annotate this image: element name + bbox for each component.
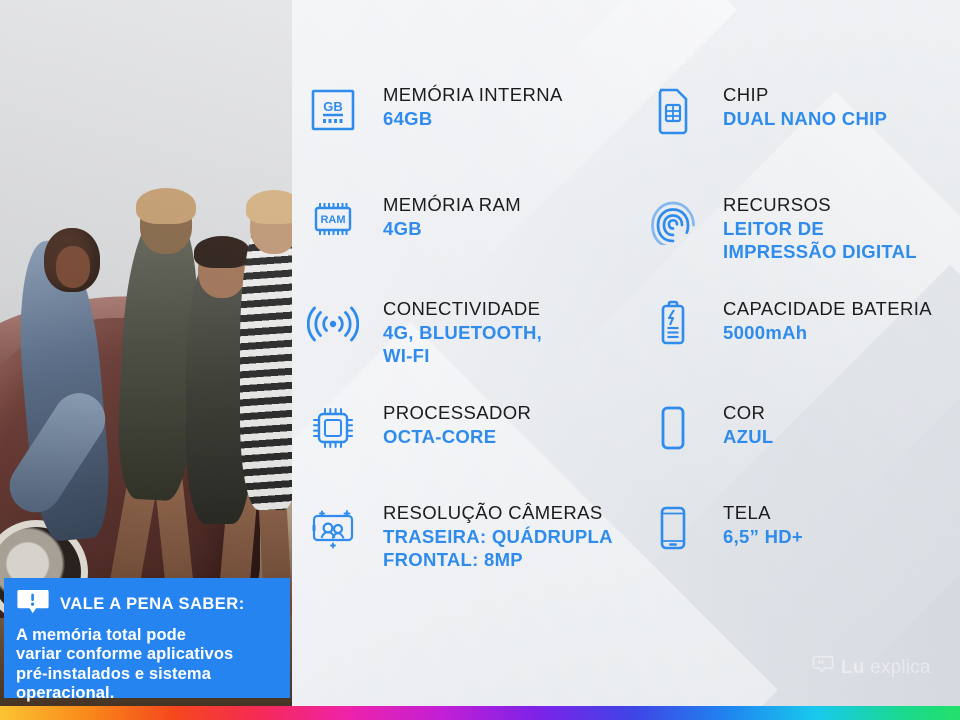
spec-text: TELA 6,5” HD+ bbox=[723, 500, 803, 549]
fingerprint-icon bbox=[645, 192, 701, 248]
ram-chip-icon: RAM bbox=[305, 192, 361, 248]
spec-row-battery: CAPACIDADE BATERIA 5000mAh bbox=[645, 296, 932, 352]
spec-text: RESOLUÇÃO CÂMERAS TRASEIRA: QUÁDRUPLA FR… bbox=[383, 500, 613, 572]
spec-label: CAPACIDADE BATERIA bbox=[723, 298, 932, 321]
spec-value: 6,5” HD+ bbox=[723, 526, 803, 549]
spec-label: RESOLUÇÃO CÂMERAS bbox=[383, 502, 613, 525]
spec-label: MEMÓRIA INTERNA bbox=[383, 84, 563, 107]
spec-value: 5000mAh bbox=[723, 322, 932, 345]
spec-label: CONECTIVIDADE bbox=[383, 298, 542, 321]
spec-row-features: RECURSOS LEITOR DE IMPRESSÃO DIGITAL bbox=[645, 192, 917, 264]
spec-value: TRASEIRA: QUÁDRUPLA FRONTAL: 8MP bbox=[383, 526, 613, 572]
spec-text: MEMÓRIA RAM 4GB bbox=[383, 192, 521, 241]
wifi-signal-icon bbox=[305, 296, 361, 352]
spec-value: AZUL bbox=[723, 426, 774, 449]
spec-label: TELA bbox=[723, 502, 803, 525]
spec-row-ram: RAM MEMÓRIA RAM 4GB bbox=[305, 192, 521, 248]
rainbow-gradient-strip bbox=[0, 706, 960, 720]
processor-chip-icon bbox=[305, 400, 361, 456]
spec-text: COR AZUL bbox=[723, 400, 774, 449]
phone-body-icon bbox=[645, 400, 701, 456]
spec-text: PROCESSADOR OCTA-CORE bbox=[383, 400, 531, 449]
svg-text:RAM: RAM bbox=[320, 214, 345, 226]
callout-body: A memória total pode variar conforme apl… bbox=[16, 626, 278, 703]
spec-text: RECURSOS LEITOR DE IMPRESSÃO DIGITAL bbox=[723, 192, 917, 264]
lu-speech-bubble-icon bbox=[812, 655, 834, 680]
spec-text: CONECTIVIDADE 4G, BLUETOOTH, WI-FI bbox=[383, 296, 542, 368]
callout-header: VALE A PENA SABER: bbox=[16, 588, 278, 621]
spec-value: DUAL NANO CHIP bbox=[723, 108, 887, 131]
spec-label: CHIP bbox=[723, 84, 887, 107]
spec-value: 4GB bbox=[383, 218, 521, 241]
spec-row-chip: CHIP DUAL NANO CHIP bbox=[645, 82, 887, 138]
spec-value: LEITOR DE IMPRESSÃO DIGITAL bbox=[723, 218, 917, 264]
sim-card-icon bbox=[645, 82, 701, 138]
spec-text: CAPACIDADE BATERIA 5000mAh bbox=[723, 296, 932, 345]
spec-label: PROCESSADOR bbox=[383, 402, 531, 425]
spec-value: 4G, BLUETOOTH, WI-FI bbox=[383, 322, 542, 368]
spec-label: RECURSOS bbox=[723, 194, 917, 217]
spec-row-color: COR AZUL bbox=[645, 400, 774, 456]
callout-title: VALE A PENA SABER: bbox=[60, 595, 245, 614]
background-facet bbox=[531, 91, 960, 699]
watermark-word: explica bbox=[865, 657, 931, 678]
spec-row-connectivity: CONECTIVIDADE 4G, BLUETOOTH, WI-FI bbox=[305, 296, 542, 368]
spec-row-screen: TELA 6,5” HD+ bbox=[645, 500, 803, 556]
spec-label: MEMÓRIA RAM bbox=[383, 194, 521, 217]
camera-selfie-icon bbox=[305, 500, 361, 556]
spec-text: MEMÓRIA INTERNA 64GB bbox=[383, 82, 563, 131]
infographic-root: GB MEMÓRIA INTERNA 64GB RAM bbox=[0, 0, 960, 720]
callout-box: VALE A PENA SABER: A memória total pode … bbox=[4, 578, 290, 698]
watermark-text: Lu explica bbox=[841, 657, 931, 679]
watermark-brand: Lu bbox=[841, 657, 865, 678]
svg-text:GB: GB bbox=[323, 99, 343, 114]
spec-value: OCTA-CORE bbox=[383, 426, 531, 449]
lu-explica-watermark: Lu explica bbox=[812, 655, 931, 680]
internal-memory-icon: GB bbox=[305, 82, 361, 138]
spec-row-cameras: RESOLUÇÃO CÂMERAS TRASEIRA: QUÁDRUPLA FR… bbox=[305, 500, 613, 572]
spec-text: CHIP DUAL NANO CHIP bbox=[723, 82, 887, 131]
phone-screen-icon bbox=[645, 500, 701, 556]
spec-value: 64GB bbox=[383, 108, 563, 131]
speech-bubble-alert-icon bbox=[16, 588, 50, 621]
spec-row-processor: PROCESSADOR OCTA-CORE bbox=[305, 400, 531, 456]
spec-label: COR bbox=[723, 402, 774, 425]
spec-row-internal-memory: GB MEMÓRIA INTERNA 64GB bbox=[305, 82, 563, 138]
battery-icon bbox=[645, 296, 701, 352]
